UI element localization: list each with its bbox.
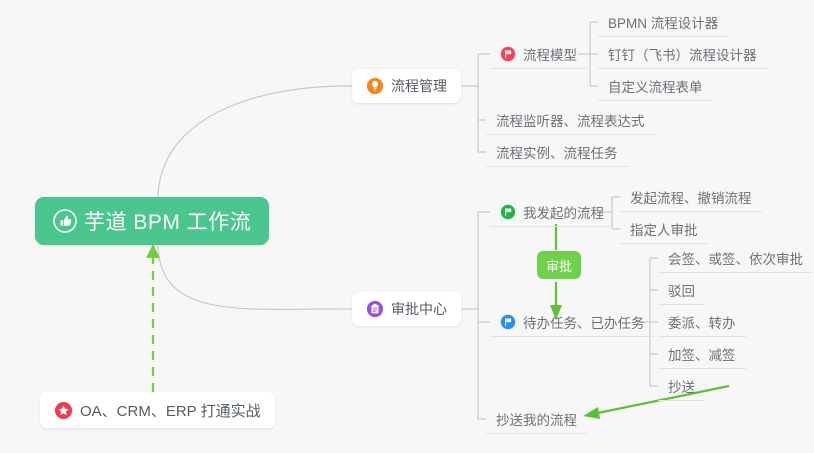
node-bpmn-designer[interactable]: BPMN 流程设计器 (598, 7, 728, 37)
link-root-to-process-management (158, 86, 352, 197)
node-approval-center-label: 审批中心 (391, 299, 447, 319)
node-todo-done-tasks-label: 待办任务、已办任务 (523, 312, 645, 332)
lightbulb-icon (366, 77, 384, 95)
node-process-management[interactable]: 流程管理 (352, 69, 461, 103)
flag-icon (500, 314, 516, 330)
node-process-instance-task[interactable]: 流程实例、流程任务 (486, 137, 628, 167)
node-integration-practice[interactable]: OA、CRM、ERP 打通实战 (40, 392, 275, 428)
node-custom-process-form[interactable]: 自定义流程表单 (598, 71, 713, 101)
node-countersign-or-sign-sequential[interactable]: 会签、或签、依次审批 (658, 243, 813, 273)
node-integration-practice-label: OA、CRM、ERP 打通实战 (80, 400, 261, 421)
node-custom-process-form-label: 自定义流程表单 (608, 76, 703, 96)
node-delegate-transfer-label: 委派、转办 (668, 312, 736, 332)
flag-icon (500, 46, 516, 62)
node-cc-label: 抄送 (668, 376, 695, 396)
approval-tag-label: 审批 (546, 256, 572, 275)
node-assigned-approver[interactable]: 指定人审批 (620, 214, 708, 244)
node-cc-to-me-process[interactable]: 抄送我的流程 (486, 404, 587, 434)
node-assigned-approver-label: 指定人审批 (630, 219, 698, 239)
node-start-cancel-process-label: 发起流程、撤销流程 (630, 187, 752, 207)
node-add-remove-sign-label: 加签、减签 (668, 344, 736, 364)
node-process-listener-expression[interactable]: 流程监听器、流程表达式 (486, 105, 655, 135)
clipboard-icon (366, 300, 384, 318)
node-process-instance-task-label: 流程实例、流程任务 (496, 142, 618, 162)
flow-arrow-integration-head (146, 244, 160, 258)
node-todo-done-tasks[interactable]: 待办任务、已办任务 (490, 307, 655, 337)
thumbs-up-icon (53, 209, 77, 233)
node-my-initiated-process-label: 我发起的流程 (523, 202, 604, 222)
node-start-cancel-process[interactable]: 发起流程、撤销流程 (620, 182, 762, 212)
node-dingtalk-feishu-designer-label: 钉钉（飞书）流程设计器 (608, 44, 757, 64)
node-cc-to-me-process-label: 抄送我的流程 (496, 409, 577, 429)
node-my-initiated-process[interactable]: 我发起的流程 (490, 197, 614, 227)
flag-icon (500, 204, 516, 220)
node-process-model[interactable]: 流程模型 (490, 39, 587, 69)
mindmap-canvas: 芋道 BPM 工作流 流程管理 流程模型 BPMN 流程设计器 钉钉（飞书）流 (0, 0, 814, 453)
star-icon (54, 401, 73, 420)
link-root-to-approval-center (158, 246, 352, 309)
node-process-listener-expression-label: 流程监听器、流程表达式 (496, 110, 645, 130)
node-process-management-label: 流程管理 (391, 76, 447, 96)
node-add-remove-sign[interactable]: 加签、减签 (658, 339, 746, 369)
node-delegate-transfer[interactable]: 委派、转办 (658, 307, 746, 337)
node-cc[interactable]: 抄送 (658, 371, 705, 401)
node-approval-center[interactable]: 审批中心 (352, 292, 461, 326)
node-dingtalk-feishu-designer[interactable]: 钉钉（飞书）流程设计器 (598, 39, 767, 69)
root-node[interactable]: 芋道 BPM 工作流 (35, 197, 269, 245)
node-bpmn-designer-label: BPMN 流程设计器 (608, 12, 718, 32)
node-process-model-label: 流程模型 (523, 44, 577, 64)
node-reject[interactable]: 驳回 (658, 275, 705, 305)
root-label: 芋道 BPM 工作流 (84, 206, 251, 236)
approval-tag[interactable]: 审批 (537, 251, 581, 279)
node-reject-label: 驳回 (668, 280, 695, 300)
node-countersign-or-sign-sequential-label: 会签、或签、依次审批 (668, 248, 803, 268)
